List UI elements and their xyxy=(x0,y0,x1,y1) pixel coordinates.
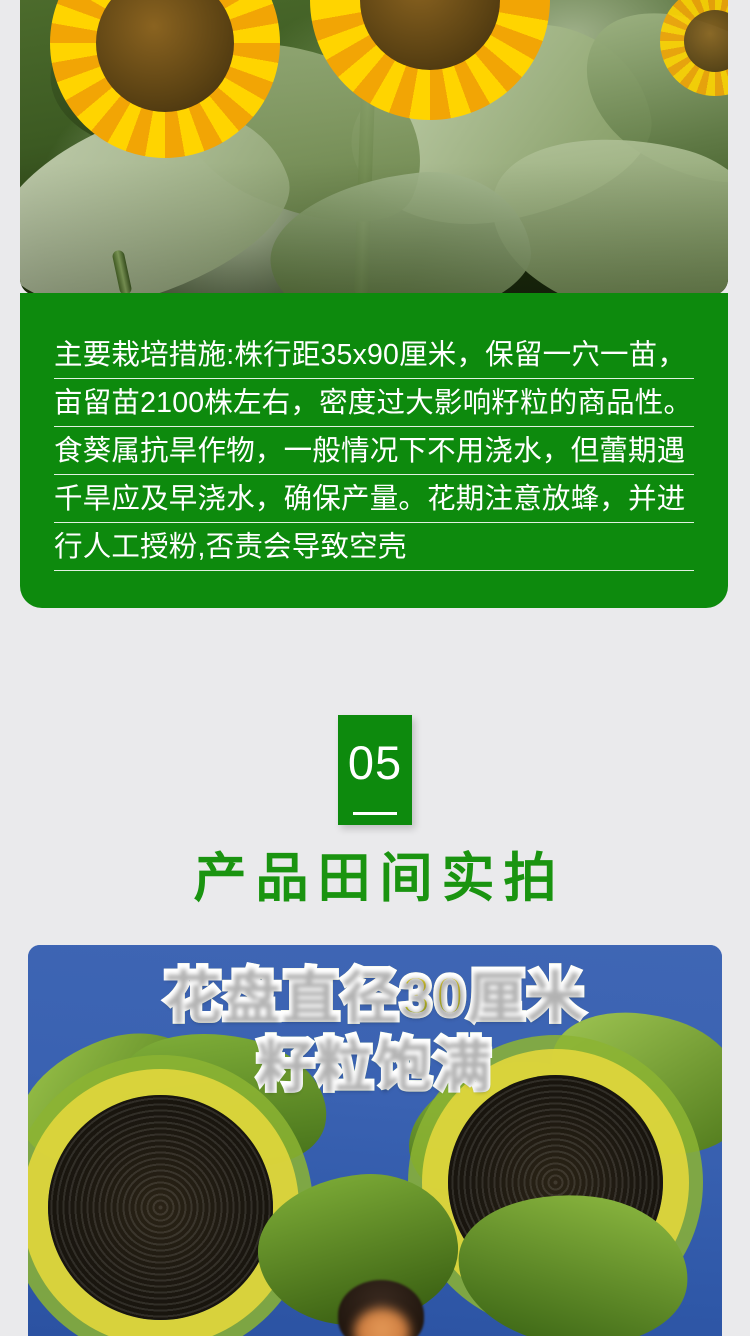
info-text-line: 千旱应及早浇水，确保产量。花期注意放蜂，并进 xyxy=(54,475,694,523)
sunflower-seed-head xyxy=(48,1095,273,1320)
section-number: 05 xyxy=(348,739,402,786)
blurred-face xyxy=(354,1308,410,1336)
info-text-line: 主要栽培措施:株行距35x90厘米，保留一穴一苗， xyxy=(54,331,694,379)
section-number-badge: 05 xyxy=(338,715,412,825)
info-line-text: 千旱应及早浇水，确保产量。花期注意放蜂，并进 xyxy=(54,485,685,514)
info-text-line: 亩留苗2100株左右，密度过大影响籽粒的商品性。 xyxy=(54,379,694,427)
section-header: 05 产品田间实拍 xyxy=(0,700,750,908)
section-title: 产品田间实拍 xyxy=(185,850,566,908)
info-text-line: 食葵属抗旱作物，一般情况下不用浇水，但蕾期遇 xyxy=(54,427,694,475)
hero-sunflower-photo xyxy=(20,0,728,295)
field-sunflower-photo: 花盘直径30厘米 籽粒饱满 xyxy=(28,945,722,1336)
badge-underline xyxy=(353,812,397,815)
info-line-text: 主要栽培措施:株行距35x90厘米，保留一穴一苗， xyxy=(54,341,686,370)
product-detail-page: 主要栽培措施:株行距35x90厘米，保留一穴一苗， 亩留苗2100株左右，密度过… xyxy=(0,0,750,1336)
info-text-line: 行人工授粉,否责会导致空壳 xyxy=(54,523,694,571)
info-line-text: 行人工授粉,否责会导致空壳 xyxy=(54,533,407,562)
hero-vignette xyxy=(20,0,728,295)
info-line-text: 亩留苗2100株左右，密度过大影响籽粒的商品性。 xyxy=(54,389,692,418)
info-line-text: 食葵属抗旱作物，一般情况下不用浇水，但蕾期遇 xyxy=(54,437,685,466)
cultivation-info-card: 主要栽培措施:株行距35x90厘米，保留一穴一苗， 亩留苗2100株左右，密度过… xyxy=(20,293,728,608)
